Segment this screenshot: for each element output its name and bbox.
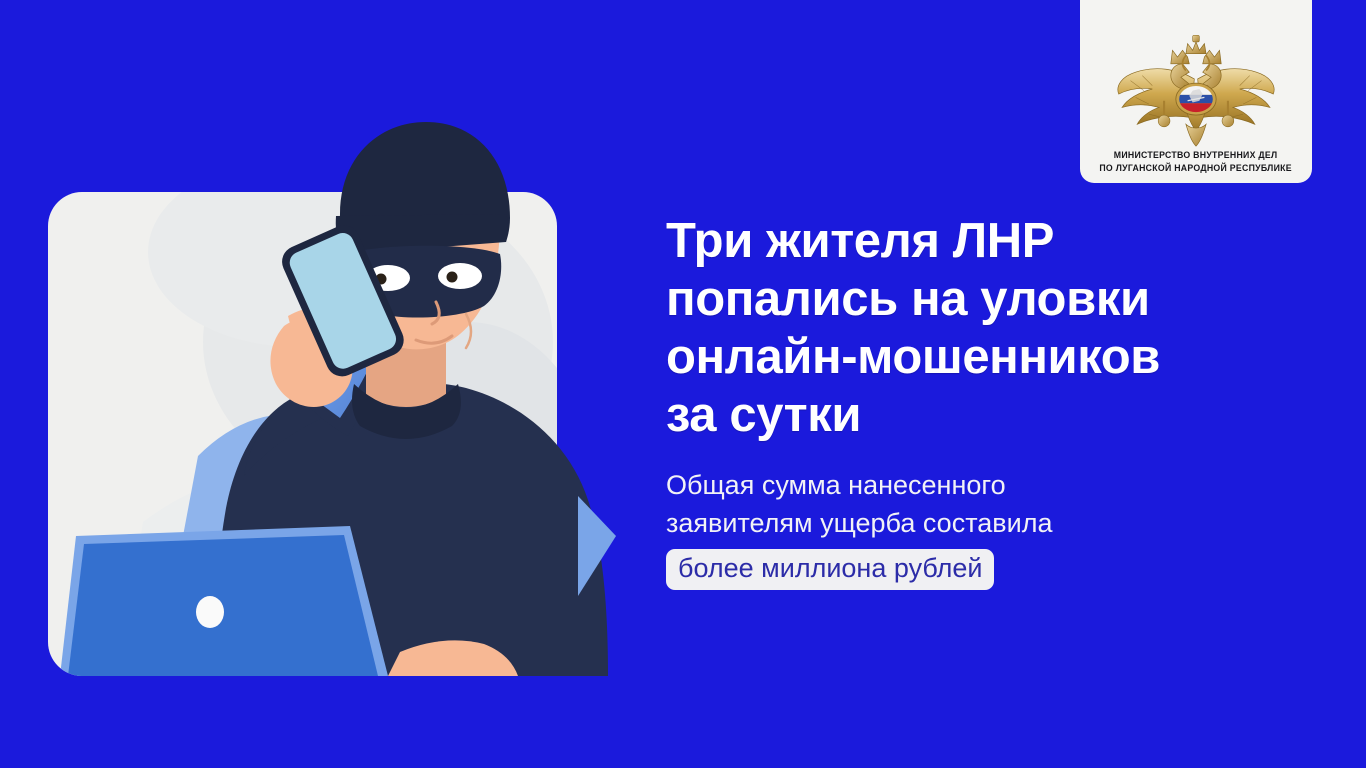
- emblem-caption-line-2: ПО ЛУГАНСКОЙ НАРОДНОЙ РЕСПУБЛИКЕ: [1100, 163, 1292, 176]
- illustration-clip: [48, 192, 557, 676]
- subtitle-line-1: Общая сумма нанесенного: [666, 466, 1306, 504]
- subtitle-line-2: заявителям ущерба составила: [666, 504, 1306, 542]
- subtitle: Общая сумма нанесенного заявителям ущерб…: [666, 466, 1306, 590]
- headline-line-2: попались на уловки: [666, 270, 1306, 328]
- illustration-card: [48, 192, 557, 676]
- poster-root: МИНИСТЕРСТВО ВНУТРЕННИХ ДЕЛ ПО ЛУГАНСКОЙ…: [0, 0, 1366, 768]
- page-title: Три жителя ЛНР попались на уловки онлайн…: [666, 212, 1306, 444]
- headline-line-3: онлайн-мошенников: [666, 328, 1306, 386]
- headline-line-1: Три жителя ЛНР: [666, 212, 1306, 270]
- text-block: Три жителя ЛНР попались на уловки онлайн…: [666, 212, 1306, 590]
- headline-line-4: за сутки: [666, 386, 1306, 444]
- emblem-caption-line-1: МИНИСТЕРСТВО ВНУТРЕННИХ ДЕЛ: [1100, 150, 1292, 163]
- double-headed-eagle-icon: [1112, 30, 1280, 148]
- sleeve-accent-right: [578, 496, 616, 596]
- damage-amount-highlight: более миллиона рублей: [666, 549, 994, 590]
- emblem-caption: МИНИСТЕРСТВО ВНУТРЕННИХ ДЕЛ ПО ЛУГАНСКОЙ…: [1100, 150, 1292, 175]
- mvd-emblem-card: МИНИСТЕРСТВО ВНУТРЕННИХ ДЕЛ ПО ЛУГАНСКОЙ…: [1080, 0, 1312, 183]
- illustration-backdrop-svg: [48, 192, 557, 676]
